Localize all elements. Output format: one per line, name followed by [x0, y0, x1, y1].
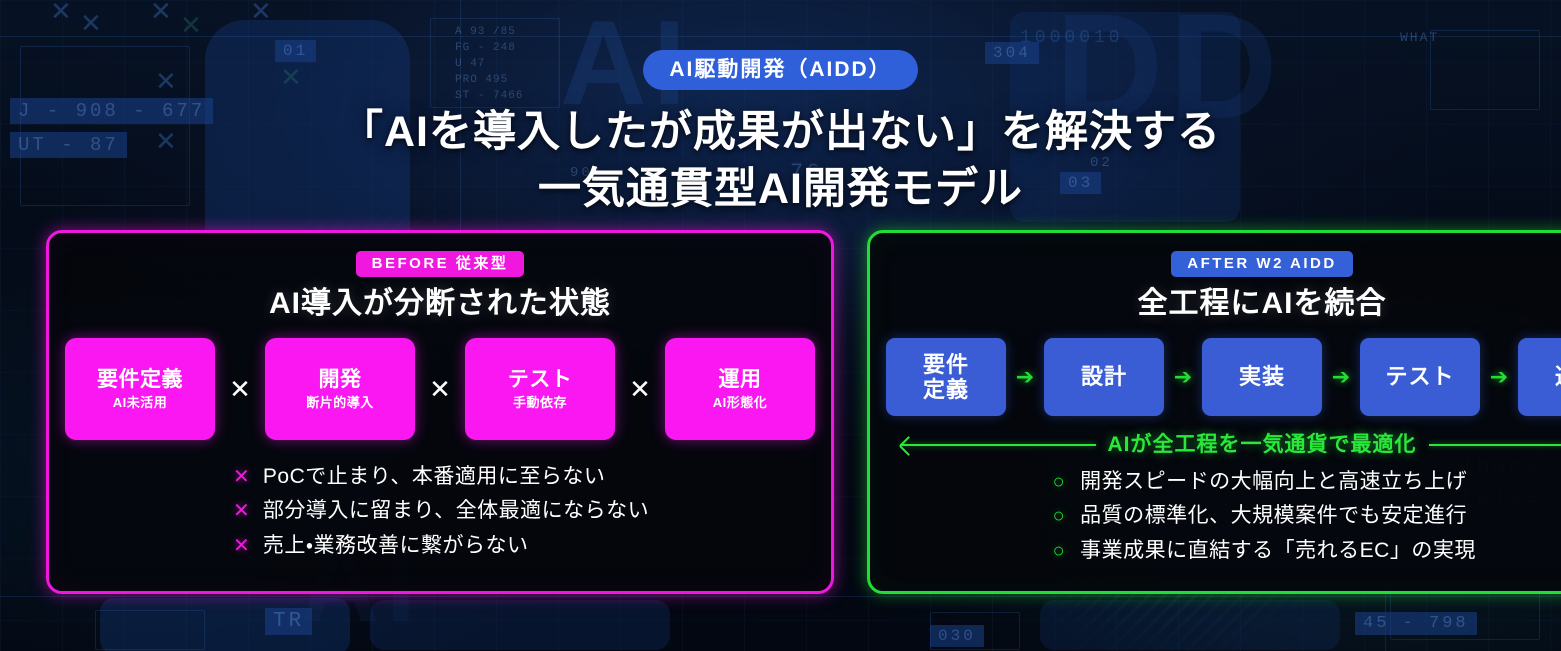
before-step-box: 運用 AI形態化: [665, 338, 815, 440]
after-step-box: テスト: [1360, 338, 1480, 416]
list-item: ○ 事業成果に直結する「売れるEC」の実現: [1048, 538, 1476, 564]
arrow-left-line-icon: [900, 444, 1096, 446]
optimize-banner: AIが全工程を一気通貨で最適化: [886, 434, 1561, 455]
arrow-right-icon: ➔: [1164, 366, 1202, 388]
slide-header: AI駆動開発（AIDD） 「AIを導入したが成果が出ない」を解決する 一気通貫型…: [0, 0, 1561, 218]
after-step-title: 設計: [1081, 364, 1127, 389]
list-item: ○ 品質の標準化、大規模案件でも安定進行: [1048, 503, 1476, 529]
bullet-label: 売上・業務改善に繋がらない: [263, 533, 529, 559]
headline-line-2: 一気通貫型AI開発モデル: [0, 161, 1561, 218]
aidd-badge: AI駆動開発（AIDD）: [643, 50, 917, 90]
slide-canvas: ✕ ✕ ✕ ✕ ✕ ✕ ✕ ✕ AI DD AI J - 908 - 677 U…: [0, 0, 1561, 651]
list-item: ✕ 売上・業務改善に繋がらない: [231, 533, 649, 559]
cross-separator-icon: ✕: [215, 376, 265, 402]
bullet-label: 事業成果に直結する「売れるEC」の実現: [1080, 538, 1476, 564]
bullet-label: 開発スピードの大幅向上と高速立ち上げ: [1080, 469, 1467, 495]
after-step-title: テスト: [1385, 364, 1454, 389]
list-item: ✕ PoCで止まり、本番適用に至らない: [231, 464, 649, 490]
page-title: 「AIを導入したが成果が出ない」を解決する 一気通貫型AI開発モデル: [0, 104, 1561, 218]
bullet-label: PoCで止まり、本番適用に至らない: [263, 464, 606, 490]
cross-bullet-icon: ✕: [231, 501, 252, 521]
after-step-box: 運用: [1518, 338, 1561, 416]
before-step-subtitle: 手動依存: [513, 396, 567, 409]
before-step-title: 要件定義: [97, 369, 183, 390]
after-step-title: 実装: [1239, 364, 1285, 389]
after-panel: AFTER W2 AIDD 全工程にAIを続合 要件 定義 ➔ 設計 ➔ 実装 …: [867, 230, 1561, 594]
cross-bullet-icon: ✕: [231, 536, 252, 556]
cross-separator-icon: ✕: [415, 376, 465, 402]
after-process-flow: 要件 定義 ➔ 設計 ➔ 実装 ➔ テスト ➔ 運用: [886, 338, 1561, 416]
after-bullet-list: ○ 開発スピードの大幅向上と高速立ち上げ ○ 品質の標準化、大規模案件でも安定進…: [1048, 469, 1476, 564]
before-step-title: 開発: [319, 369, 362, 390]
before-step-box: テスト 手動依存: [465, 338, 615, 440]
before-step-subtitle: AI未活用: [113, 396, 168, 409]
before-process-flow: 要件定義 AI未活用 ✕ 開発 断片的導入 ✕ テスト 手動依存 ✕ 運用 AI…: [65, 338, 815, 440]
after-title: 全工程にAIを続合: [1138, 286, 1387, 322]
headline-line-1: 「AIを導入したが成果が出ない」を解決する: [0, 104, 1561, 161]
after-step-box: 設計: [1044, 338, 1164, 416]
after-badge: AFTER W2 AIDD: [1171, 251, 1352, 277]
comparison-panels: BEFORE 従来型 AI導入が分断された状態 要件定義 AI未活用 ✕ 開発 …: [46, 230, 1515, 594]
cross-bullet-icon: ✕: [231, 467, 252, 487]
before-step-title: 運用: [719, 369, 762, 390]
list-item: ○ 開発スピードの大幅向上と高速立ち上げ: [1048, 469, 1476, 495]
circle-bullet-icon: ○: [1048, 472, 1069, 492]
arrow-right-line-icon: [1429, 444, 1561, 446]
bullet-label: 部分導入に留まり、全体最適にならない: [263, 498, 649, 524]
cross-separator-icon: ✕: [615, 376, 665, 402]
before-bullet-list: ✕ PoCで止まり、本番適用に至らない ✕ 部分導入に留まり、全体最適にならない…: [231, 464, 649, 559]
after-step-title: 要件 定義: [923, 352, 969, 403]
arrow-right-icon: ➔: [1480, 366, 1518, 388]
before-panel: BEFORE 従来型 AI導入が分断された状態 要件定義 AI未活用 ✕ 開発 …: [46, 230, 834, 594]
after-step-box: 実装: [1202, 338, 1322, 416]
bullet-label: 品質の標準化、大規模案件でも安定進行: [1080, 503, 1467, 529]
arrow-right-icon: ➔: [1006, 366, 1044, 388]
before-step-subtitle: AI形態化: [713, 396, 768, 409]
before-step-title: テスト: [508, 369, 573, 390]
before-title: AI導入が分断された状態: [269, 286, 611, 322]
before-step-box: 要件定義 AI未活用: [65, 338, 215, 440]
circle-bullet-icon: ○: [1048, 506, 1069, 526]
circle-bullet-icon: ○: [1048, 541, 1069, 561]
list-item: ✕ 部分導入に留まり、全体最適にならない: [231, 498, 649, 524]
after-step-box: 要件 定義: [886, 338, 1006, 416]
before-step-box: 開発 断片的導入: [265, 338, 415, 440]
before-step-subtitle: 断片的導入: [306, 396, 374, 409]
after-step-title: 運用: [1555, 364, 1561, 389]
arrow-right-icon: ➔: [1322, 366, 1360, 388]
optimize-label: AIが全工程を一気通貨で最適化: [1108, 434, 1417, 455]
before-badge: BEFORE 従来型: [356, 251, 525, 277]
